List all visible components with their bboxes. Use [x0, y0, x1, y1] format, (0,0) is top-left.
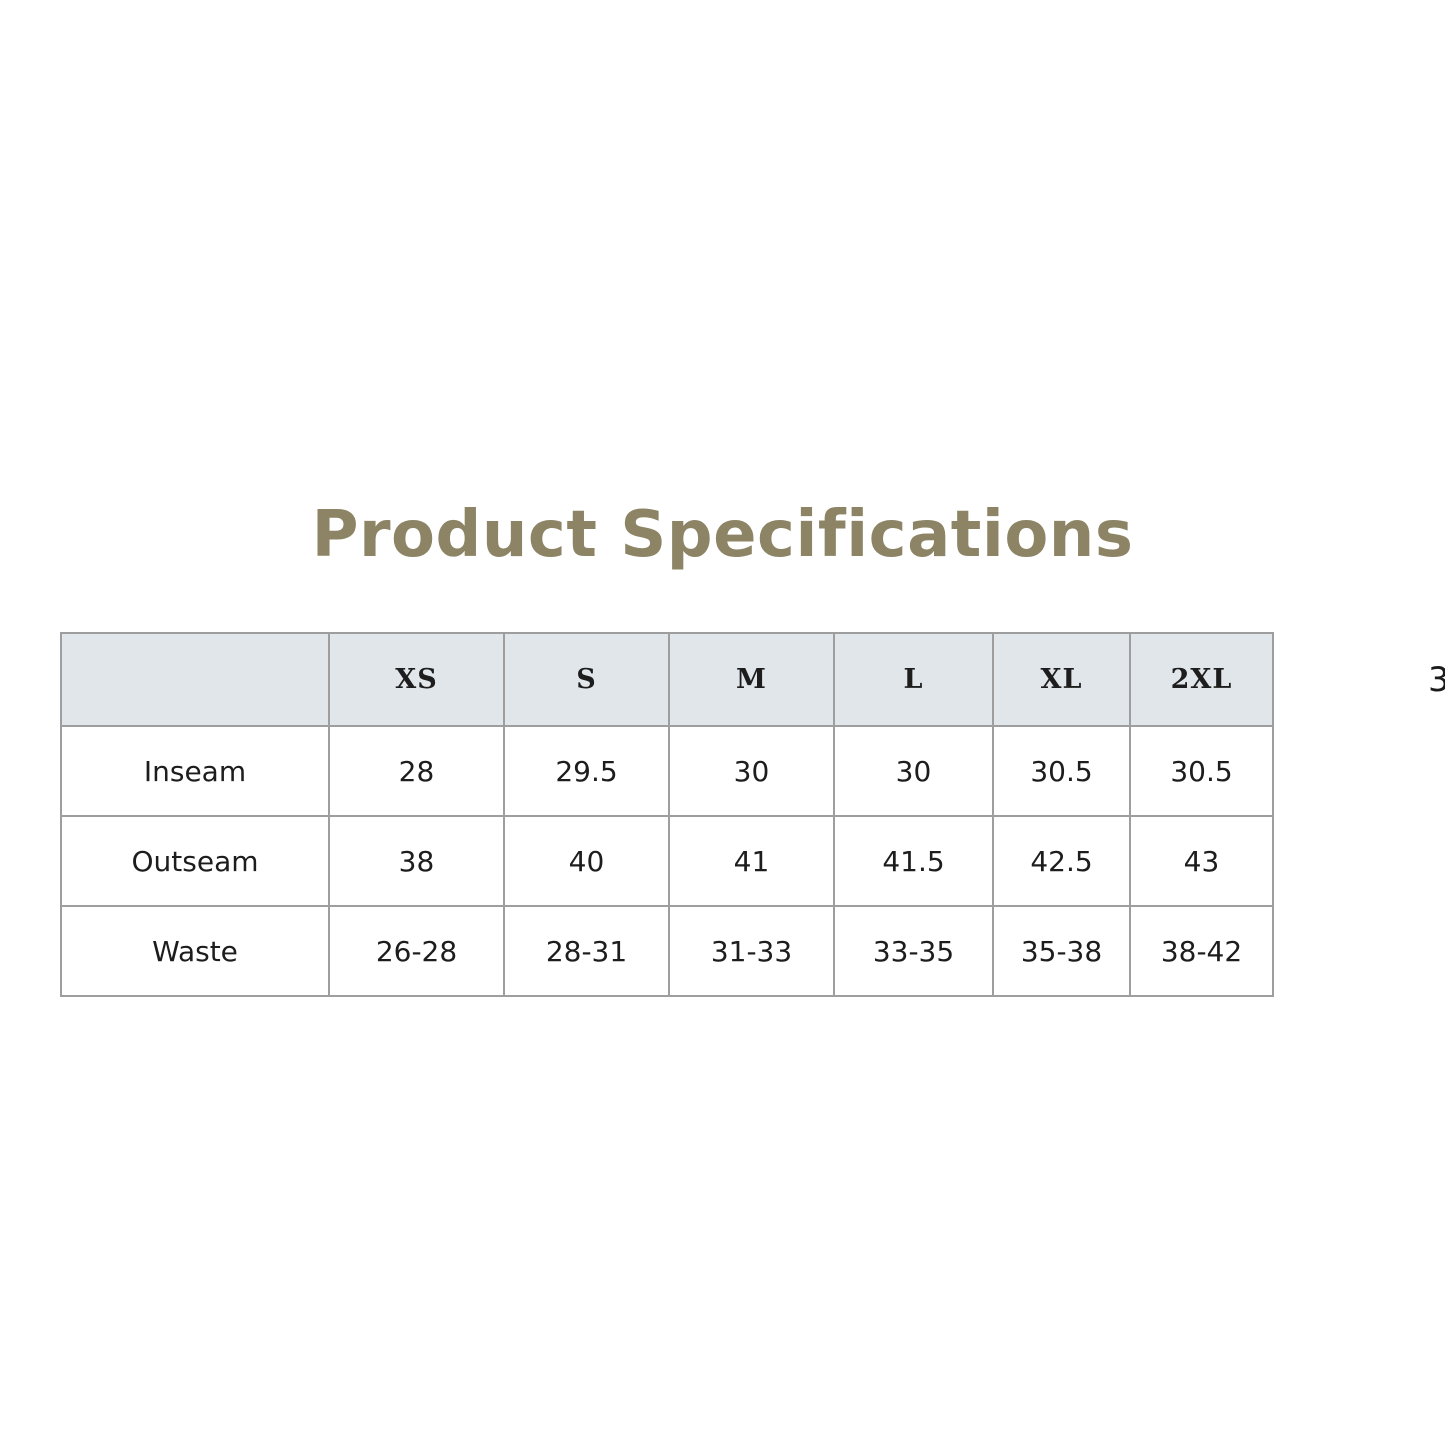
page-number-marginal: 3 [1428, 660, 1445, 700]
column-header-xl: XL [993, 633, 1130, 726]
cell-outseam-s: 40 [504, 816, 669, 906]
row-label-inseam: Inseam [61, 726, 329, 816]
cell-waste-m: 31-33 [669, 906, 834, 996]
product-specifications-table-container: XS S M L XL 2XL Inseam 28 29.5 30 30 30.… [60, 632, 1272, 997]
cell-outseam-2xl: 43 [1130, 816, 1273, 906]
cell-inseam-s: 29.5 [504, 726, 669, 816]
cell-outseam-m: 41 [669, 816, 834, 906]
column-header-2xl: 2XL [1130, 633, 1273, 726]
cell-waste-l: 33-35 [834, 906, 993, 996]
cell-waste-2xl: 38-42 [1130, 906, 1273, 996]
cell-waste-xs: 26-28 [329, 906, 504, 996]
cell-waste-xl: 35-38 [993, 906, 1130, 996]
column-header-l: L [834, 633, 993, 726]
table-body: Inseam 28 29.5 30 30 30.5 30.5 Outseam 3… [61, 726, 1273, 996]
table-row: Inseam 28 29.5 30 30 30.5 30.5 [61, 726, 1273, 816]
cell-outseam-l: 41.5 [834, 816, 993, 906]
cell-outseam-xl: 42.5 [993, 816, 1130, 906]
cell-inseam-2xl: 30.5 [1130, 726, 1273, 816]
row-label-outseam: Outseam [61, 816, 329, 906]
cell-inseam-m: 30 [669, 726, 834, 816]
product-specifications-table: XS S M L XL 2XL Inseam 28 29.5 30 30 30.… [60, 632, 1274, 997]
row-label-waste: Waste [61, 906, 329, 996]
column-header-m: M [669, 633, 834, 726]
table-row: Outseam 38 40 41 41.5 42.5 43 [61, 816, 1273, 906]
cell-inseam-l: 30 [834, 726, 993, 816]
column-header-xs: XS [329, 633, 504, 726]
page-title: Product Specifications [0, 496, 1445, 574]
table-header-row: XS S M L XL 2XL [61, 633, 1273, 726]
table-row: Waste 26-28 28-31 31-33 33-35 35-38 38-4… [61, 906, 1273, 996]
cell-outseam-xs: 38 [329, 816, 504, 906]
cell-inseam-xl: 30.5 [993, 726, 1130, 816]
table-header: XS S M L XL 2XL [61, 633, 1273, 726]
column-header-s: S [504, 633, 669, 726]
cell-inseam-xs: 28 [329, 726, 504, 816]
table-corner-cell [61, 633, 329, 726]
cell-waste-s: 28-31 [504, 906, 669, 996]
